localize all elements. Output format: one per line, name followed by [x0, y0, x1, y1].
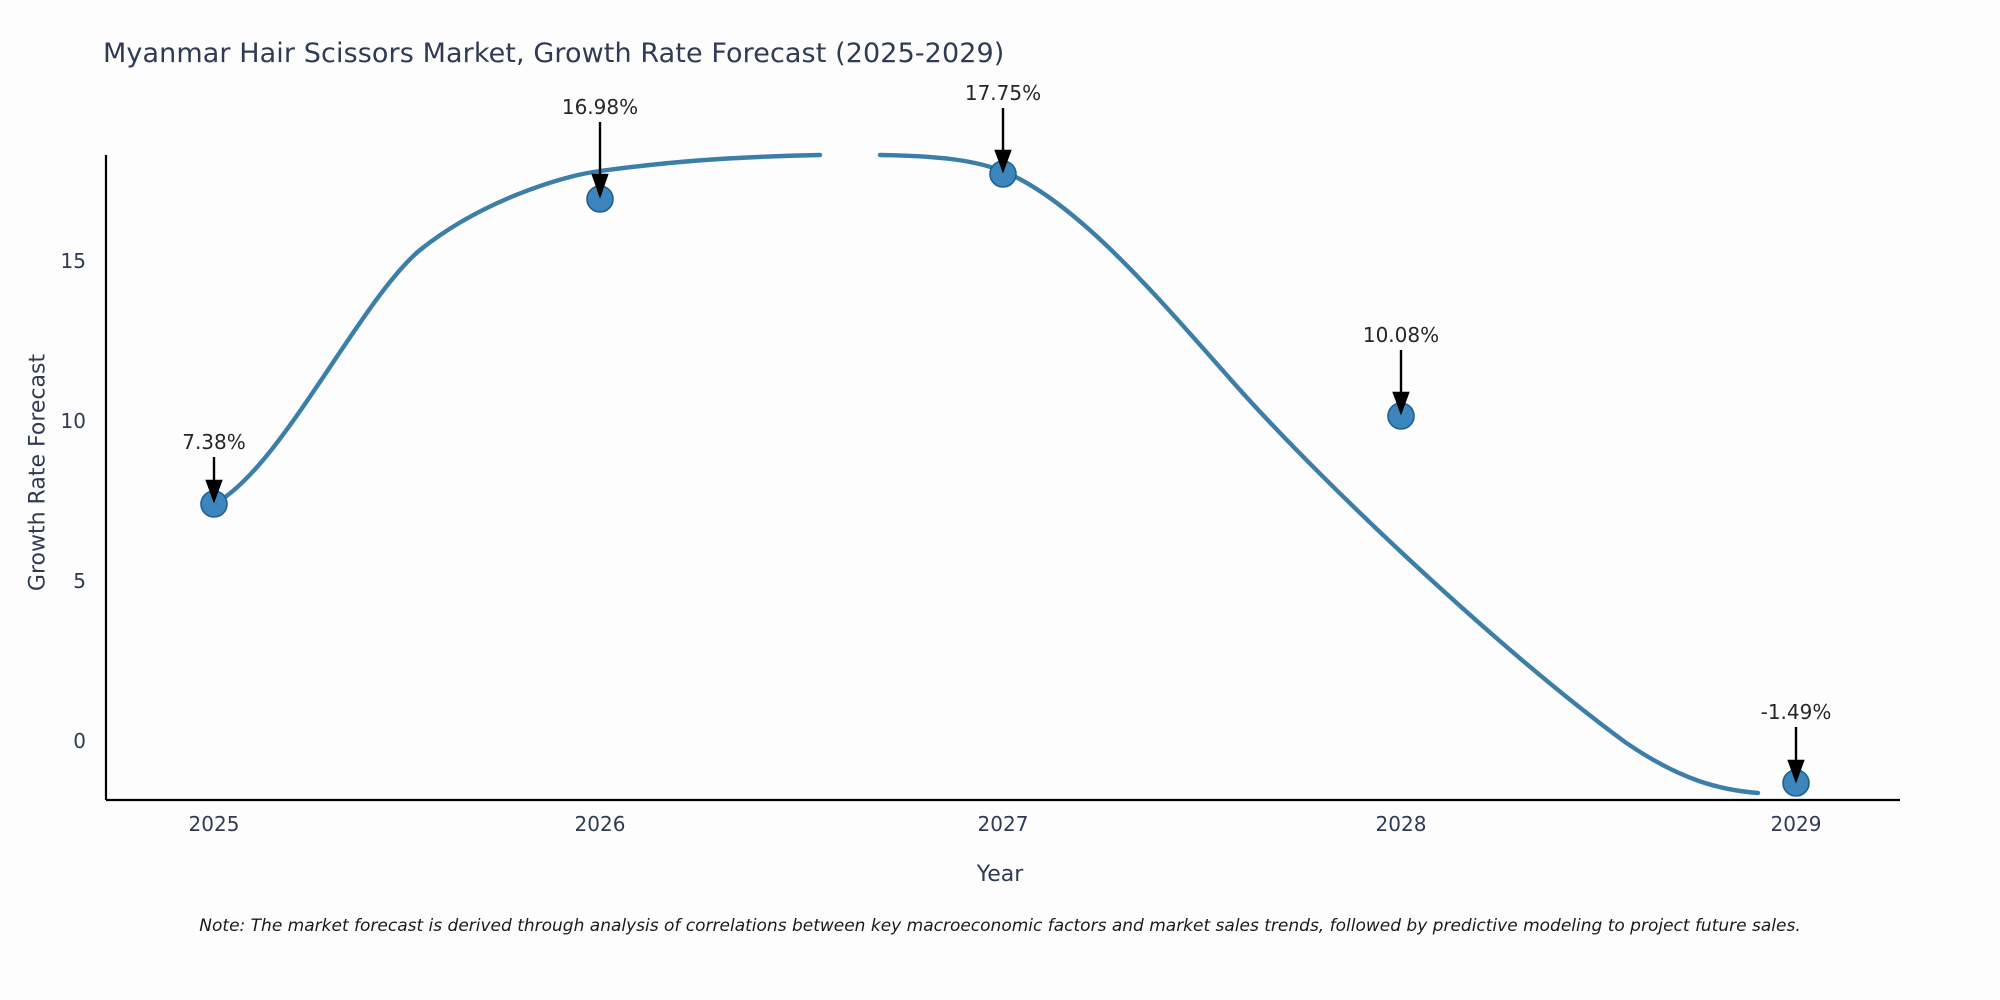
x-tick-label-2026: 2026: [540, 812, 660, 836]
y-tick-label-0: 0: [26, 729, 86, 753]
plot-area: [0, 0, 2000, 1000]
data-markers: [201, 161, 1809, 796]
data-label-2029: -1.49%: [1716, 700, 1876, 724]
data-label-2028: 10.08%: [1321, 323, 1481, 347]
x-tick-label-2025: 2025: [154, 812, 274, 836]
data-line-segment-right: [880, 155, 1758, 793]
annotation-arrow-icon: [996, 108, 1010, 170]
x-axis-title: Year: [0, 862, 2000, 887]
data-line: [214, 155, 1758, 793]
y-axis-title: Growth Rate Forecast: [26, 343, 51, 603]
chart-footnote: Note: The market forecast is derived thr…: [0, 916, 2000, 936]
annotation-arrow-icon: [593, 122, 607, 195]
data-line-segment-left: [214, 155, 820, 504]
annotation-arrow-icon: [1394, 350, 1408, 412]
data-label-2025: 7.38%: [134, 430, 294, 454]
chart-figure: Myanmar Hair Scissors Market, Growth Rat…: [0, 0, 2000, 1000]
x-tick-label-2029: 2029: [1736, 812, 1856, 836]
annotation-arrows: [207, 108, 1803, 780]
y-tick-label-15: 15: [26, 249, 86, 273]
data-label-2027: 17.75%: [923, 81, 1083, 105]
x-tick-label-2027: 2027: [943, 812, 1063, 836]
data-label-2026: 16.98%: [520, 95, 680, 119]
x-tick-label-2028: 2028: [1341, 812, 1461, 836]
